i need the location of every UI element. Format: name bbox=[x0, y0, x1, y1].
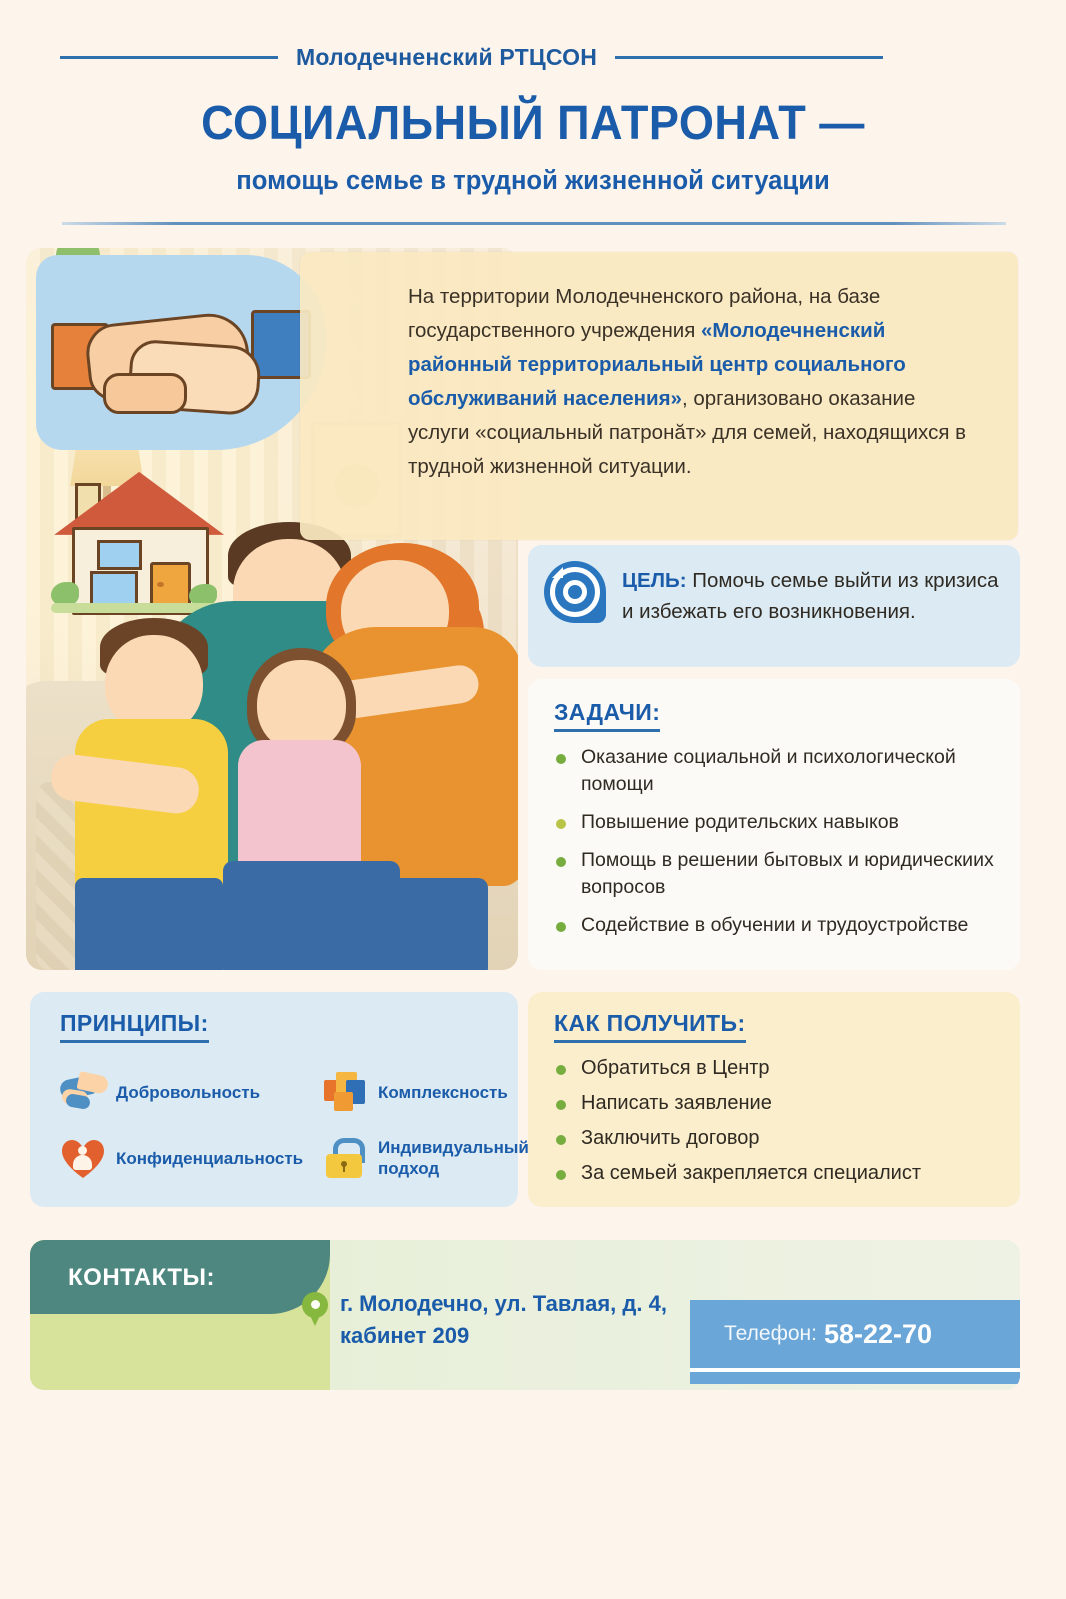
list-item: Повышение родительских навыков bbox=[554, 809, 1000, 836]
kicker-rule-left bbox=[60, 56, 278, 59]
list-item: Содействие в обучении и трудоустройстве bbox=[554, 912, 1000, 939]
goal-panel: ЦЕЛЬ: Помочь семье выйти из кризиса и из… bbox=[528, 545, 1020, 667]
page-title: СОЦИАЛЬНЫЙ ПАТРОНАТ — bbox=[32, 96, 1034, 151]
puzzle-icon bbox=[322, 1070, 370, 1114]
principles-panel: ПРИНЦИПЫ: Добровольность Комплек bbox=[30, 992, 518, 1207]
principles-heading: ПРИНЦИПЫ: bbox=[60, 1010, 209, 1043]
organization-kicker-row: Молодечненский РТЦСОН bbox=[60, 42, 1006, 72]
target-dart bbox=[552, 567, 563, 578]
organization-name: Молодечненский РТЦСОН bbox=[296, 44, 597, 71]
contacts-bar: КОНТАКТЫ: г. Молодечно, ул. Тавлая, д. 4… bbox=[30, 1240, 1020, 1390]
map-pin-icon bbox=[302, 1292, 328, 1326]
girl-head bbox=[257, 660, 346, 752]
principle-label: Комплексность bbox=[378, 1082, 508, 1103]
person-head bbox=[78, 1146, 87, 1155]
contacts-label: КОНТАКТЫ: bbox=[68, 1264, 215, 1292]
contacts-address: г. Молодечно, ул. Тавлая, д. 4, кабинет … bbox=[340, 1288, 700, 1352]
tasks-heading: ЗАДАЧИ: bbox=[554, 699, 660, 732]
list-item: За семьей закрепляется специалист bbox=[554, 1160, 1000, 1187]
intro-text: На территории Молодечненского района, на… bbox=[408, 280, 980, 484]
mother-jeans bbox=[311, 878, 488, 970]
kicker-rule-right bbox=[615, 56, 883, 59]
lock-keyhole bbox=[341, 1161, 347, 1167]
list-item: Оказание социальной и психологической по… bbox=[554, 744, 1000, 798]
principle-confidentiality: Конфиденциальность bbox=[60, 1136, 322, 1180]
handshake-icon bbox=[51, 288, 312, 425]
tasks-panel: ЗАДАЧИ: Оказание социальной и психологич… bbox=[528, 679, 1020, 970]
poster-root: Молодечненский РТЦСОН СОЦИАЛЬНЫЙ ПАТРОНА… bbox=[0, 0, 1066, 1599]
handshake-icon bbox=[60, 1070, 108, 1114]
list-item: Заключить договор bbox=[554, 1125, 1000, 1152]
intro-panel: На территории Молодечненского района, на… bbox=[300, 252, 1018, 540]
list-item: Обратиться в Центр bbox=[554, 1055, 1000, 1082]
goal-label: ЦЕЛЬ: bbox=[622, 569, 687, 592]
howto-heading: КАК ПОЛУЧИТЬ: bbox=[554, 1010, 746, 1043]
lock-icon bbox=[322, 1136, 370, 1180]
principle-voluntariness: Добровольность bbox=[60, 1070, 322, 1114]
principle-label: Добровольность bbox=[116, 1082, 260, 1103]
list-item: Помощь в решении бытовых и юридическиих … bbox=[554, 847, 1000, 901]
principles-grid: Добровольность Комплексность Конфиденциа… bbox=[60, 1059, 518, 1191]
boy-jeans bbox=[75, 878, 223, 970]
phone-label: Телефон: bbox=[724, 1322, 817, 1346]
tasks-list: Оказание социальной и психологической по… bbox=[554, 744, 1000, 939]
address-line-1: г. Молодечно, ул. Тавлая, д. 4, bbox=[340, 1288, 700, 1320]
goal-text: ЦЕЛЬ: Помочь семье выйти из кризиса и из… bbox=[622, 561, 1002, 627]
phone-underblock bbox=[690, 1372, 1020, 1384]
address-line-2: кабинет 209 bbox=[340, 1320, 700, 1352]
header-divider bbox=[62, 222, 1006, 225]
howto-list: Обратиться в Центр Написать заявление За… bbox=[554, 1055, 1000, 1187]
girl-body bbox=[238, 740, 361, 878]
person-body bbox=[73, 1155, 92, 1170]
list-item: Написать заявление bbox=[554, 1090, 1000, 1117]
handshake-fingers bbox=[103, 373, 187, 415]
poster-header: Молодечненский РТЦСОН СОЦИАЛЬНЫЙ ПАТРОНА… bbox=[0, 0, 1066, 232]
principle-complexity: Комплексность bbox=[322, 1070, 522, 1114]
target-icon bbox=[544, 561, 606, 623]
principle-label: Конфиденциальность bbox=[116, 1148, 303, 1169]
page-subtitle: помощь семье в трудной жизненной ситуаци… bbox=[27, 165, 1040, 196]
howto-panel: КАК ПОЛУЧИТЬ: Обратиться в Центр Написат… bbox=[528, 992, 1020, 1207]
family-group bbox=[26, 551, 518, 970]
map-pin-dot bbox=[311, 1300, 320, 1309]
phone-block[interactable]: Телефон: 58-22-70 bbox=[690, 1300, 1020, 1368]
principle-individual-approach: Индивидуальный подход bbox=[322, 1136, 522, 1180]
principle-label: Индивидуальный подход bbox=[378, 1137, 529, 1179]
puzzle-piece-amber bbox=[334, 1092, 353, 1111]
phone-number: 58-22-70 bbox=[824, 1319, 932, 1350]
heart-person-icon bbox=[60, 1136, 108, 1180]
